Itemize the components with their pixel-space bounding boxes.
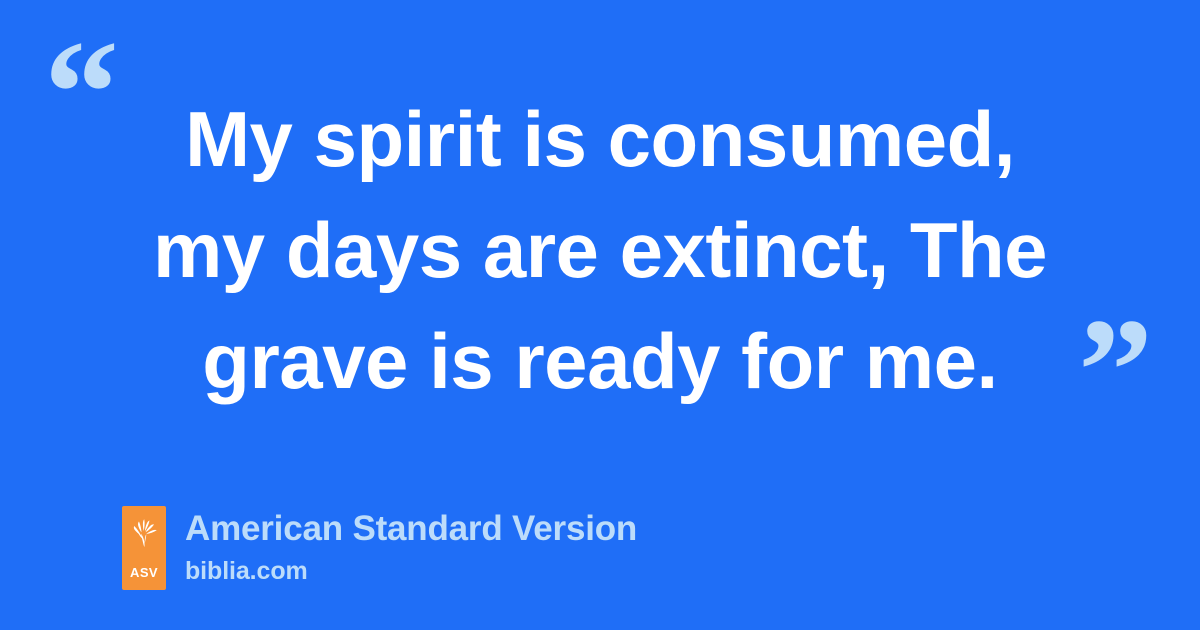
version-name: American Standard Version bbox=[185, 508, 637, 550]
site-url[interactable]: biblia.com bbox=[185, 556, 637, 586]
quote-text: My spirit is consumed, my days are extin… bbox=[108, 84, 1092, 416]
attribution-text: American Standard Version biblia.com bbox=[185, 506, 637, 586]
badge-abbreviation: ASV bbox=[122, 566, 166, 579]
version-badge: ASV bbox=[122, 506, 166, 590]
wheat-sheaf-icon bbox=[129, 515, 159, 549]
quote-block: My spirit is consumed, my days are extin… bbox=[0, 84, 1200, 416]
close-quote-icon: ” bbox=[1078, 296, 1151, 446]
quote-card: “ My spirit is consumed, my days are ext… bbox=[0, 0, 1200, 630]
attribution: ASV American Standard Version biblia.com bbox=[122, 506, 637, 590]
